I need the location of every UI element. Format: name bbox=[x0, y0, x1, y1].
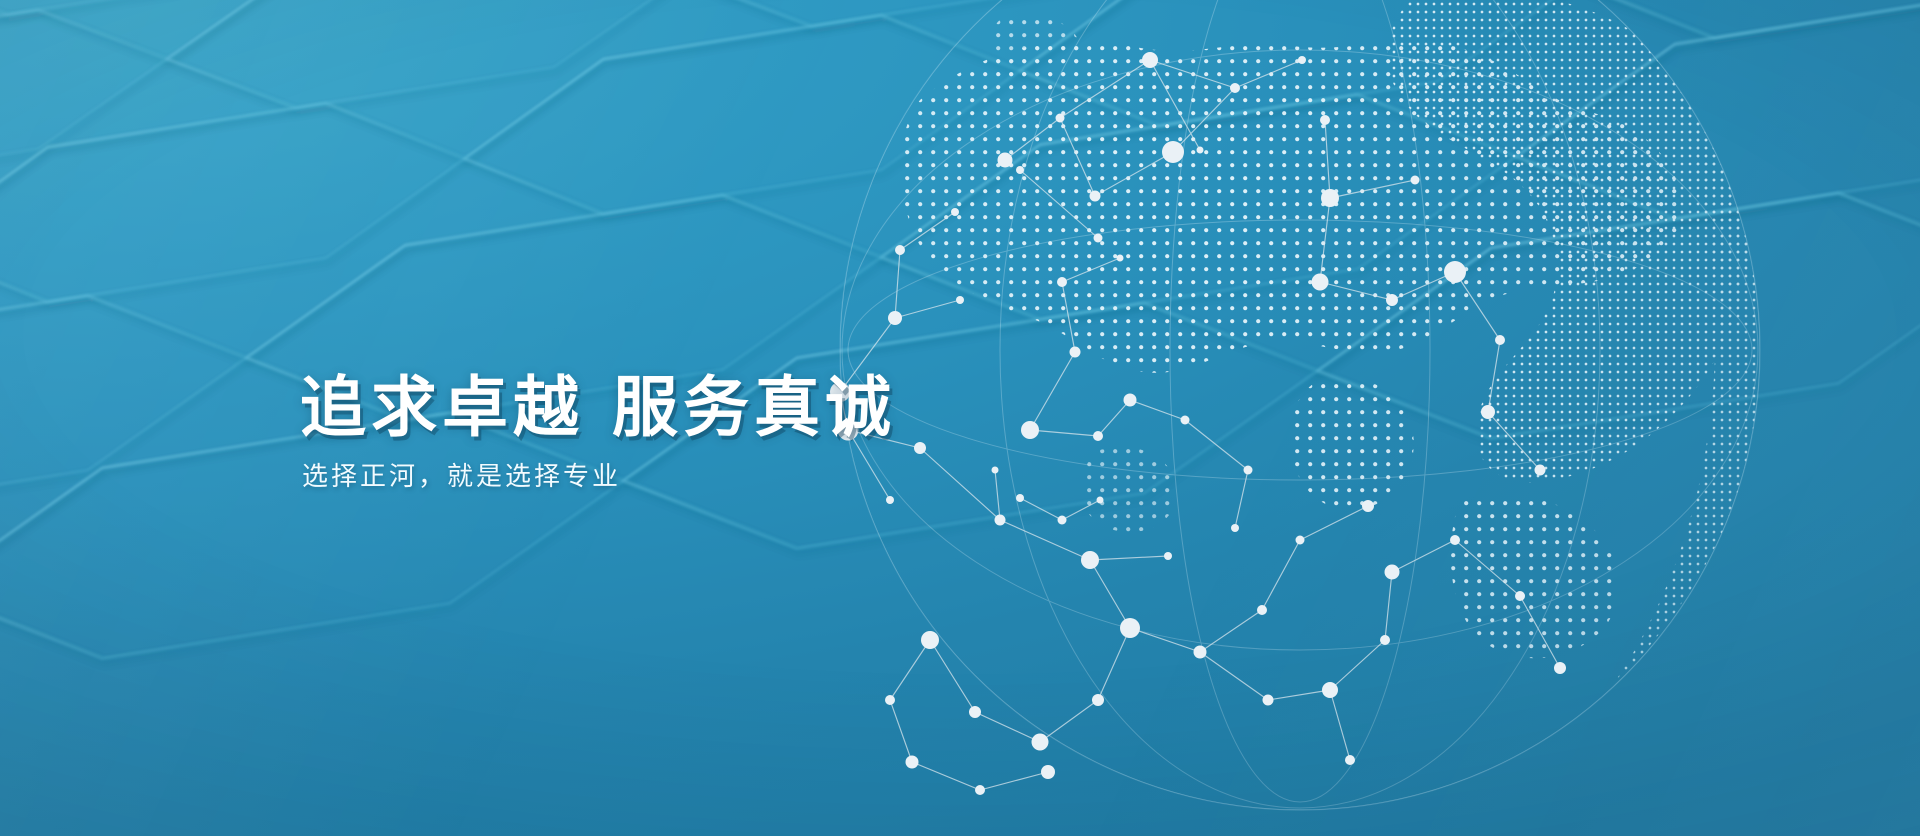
headline-part-2: 服务真诚 bbox=[612, 370, 896, 444]
banner-hero: 追求卓越服务真诚 选择正河，就是选择专业 bbox=[0, 0, 1920, 836]
page-title: 追求卓越服务真诚 bbox=[300, 372, 896, 443]
headline-part-1: 追求卓越 bbox=[300, 370, 584, 444]
background-vignette bbox=[0, 0, 1920, 836]
page-subtitle: 选择正河，就是选择专业 bbox=[302, 461, 896, 492]
hero-copy: 追求卓越服务真诚 选择正河，就是选择专业 bbox=[300, 372, 896, 492]
